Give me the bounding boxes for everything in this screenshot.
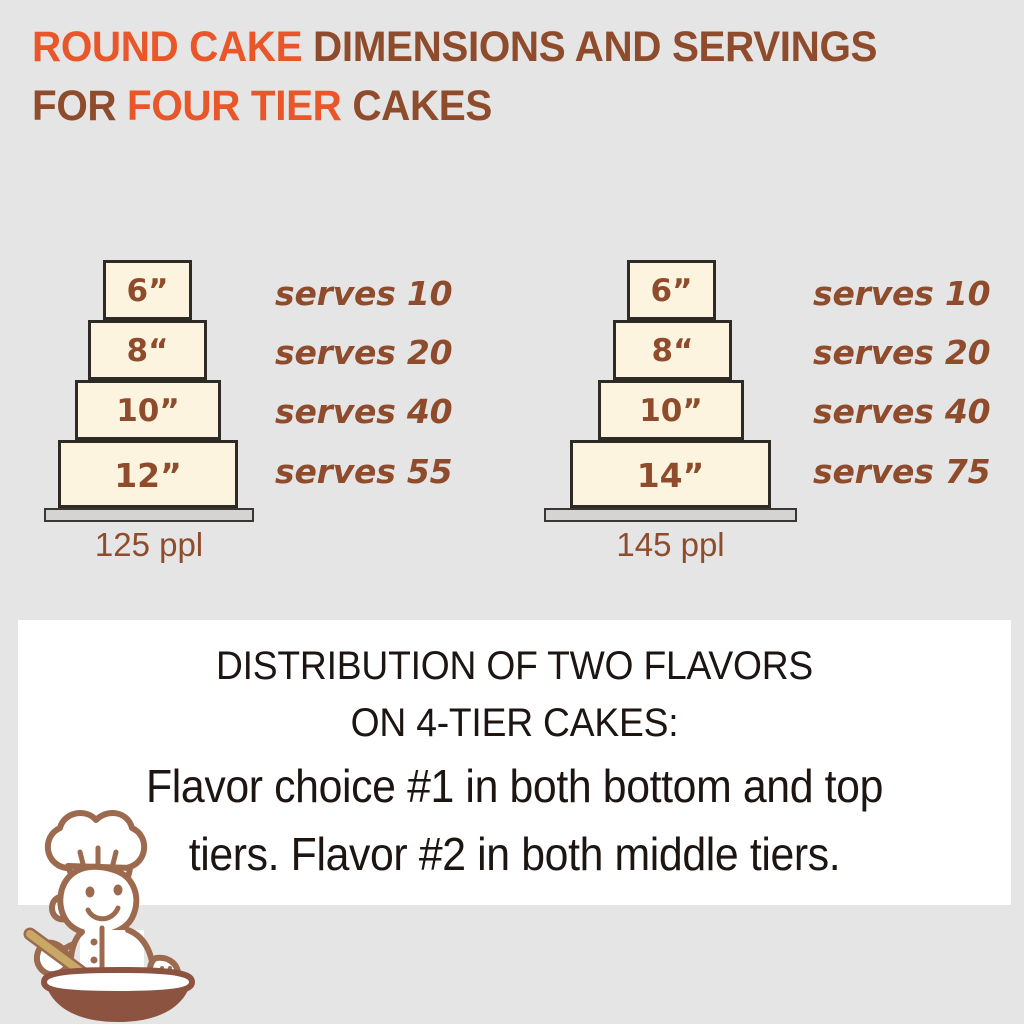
cake-tier-14in-right: 14” xyxy=(570,440,771,508)
cake-tier-6in-left: 6” xyxy=(103,260,192,320)
serves-label-6in-left: serves 10 xyxy=(275,274,452,313)
tier-size-label: 10” xyxy=(116,396,180,427)
mixing-bowl xyxy=(44,970,192,1022)
title-line-1: ROUND CAKE DIMENSIONS AND SERVINGS xyxy=(32,18,934,77)
serves-label-10in-left: serves 40 xyxy=(275,392,452,431)
cake-diagram-145: 6” 8“ 10” 14” 145 ppl serves 10 serves 2… xyxy=(495,250,1024,570)
cake-tier-10in-left: 10” xyxy=(75,380,221,440)
tier-size-label: 8“ xyxy=(652,336,694,367)
chef-with-bowl-icon xyxy=(18,806,218,1024)
cake-board-left xyxy=(44,508,254,522)
serves-column-right: serves 10 serves 20 serves 40 serves 75 xyxy=(813,250,1024,520)
serves-label-8in-left: serves 20 xyxy=(275,333,452,372)
cake-tier-8in-right: 8“ xyxy=(613,320,732,380)
cake-tier-12in-left: 12” xyxy=(58,440,238,508)
tier-size-label: 12” xyxy=(114,459,182,492)
serves-label-8in-right: serves 20 xyxy=(813,333,990,372)
title-line2-suffix: CAKES xyxy=(352,82,492,130)
infographic-canvas: ROUND CAKE DIMENSIONS AND SERVINGS FOR F… xyxy=(0,0,1024,1024)
title-line2-prefix: FOR xyxy=(32,82,127,130)
panel-heading-line-2: ON 4-TIER CAKES: xyxy=(53,695,976,752)
tier-size-label: 10” xyxy=(639,396,703,427)
cake-total-servings-left: 125 ppl xyxy=(44,526,254,564)
tier-size-label: 6” xyxy=(127,276,169,307)
serves-column-left: serves 10 serves 20 serves 40 serves 55 xyxy=(275,250,505,520)
tier-size-label: 6” xyxy=(651,276,693,307)
cake-board-right xyxy=(544,508,797,522)
serves-label-14in-right: serves 75 xyxy=(813,452,990,491)
tier-size-label: 8“ xyxy=(127,336,169,367)
title-line2-highlight: FOUR TIER xyxy=(127,82,352,130)
chef-mascot-logo xyxy=(18,806,218,1024)
title-line-2: FOR FOUR TIER CAKES xyxy=(32,77,934,136)
cake-tier-10in-right: 10” xyxy=(598,380,744,440)
serves-label-6in-right: serves 10 xyxy=(813,274,990,313)
cake-tier-8in-left: 8“ xyxy=(88,320,207,380)
title-line1-rest: DIMENSIONS AND SERVINGS xyxy=(313,23,877,71)
cake-total-servings-right: 145 ppl xyxy=(544,526,797,564)
serves-label-12in-left: serves 55 xyxy=(275,452,452,491)
panel-heading-line-1: DISTRIBUTION OF TWO FLAVORS xyxy=(53,638,976,695)
cake-diagram-125: 6” 8“ 10” 12” 125 ppl serves 10 serves 2… xyxy=(0,250,500,570)
page-title: ROUND CAKE DIMENSIONS AND SERVINGS FOR F… xyxy=(32,18,934,136)
tier-size-label: 14” xyxy=(637,459,705,492)
title-line1-highlight: ROUND CAKE xyxy=(32,23,313,71)
serves-label-10in-right: serves 40 xyxy=(813,392,990,431)
cake-tier-6in-right: 6” xyxy=(627,260,716,320)
